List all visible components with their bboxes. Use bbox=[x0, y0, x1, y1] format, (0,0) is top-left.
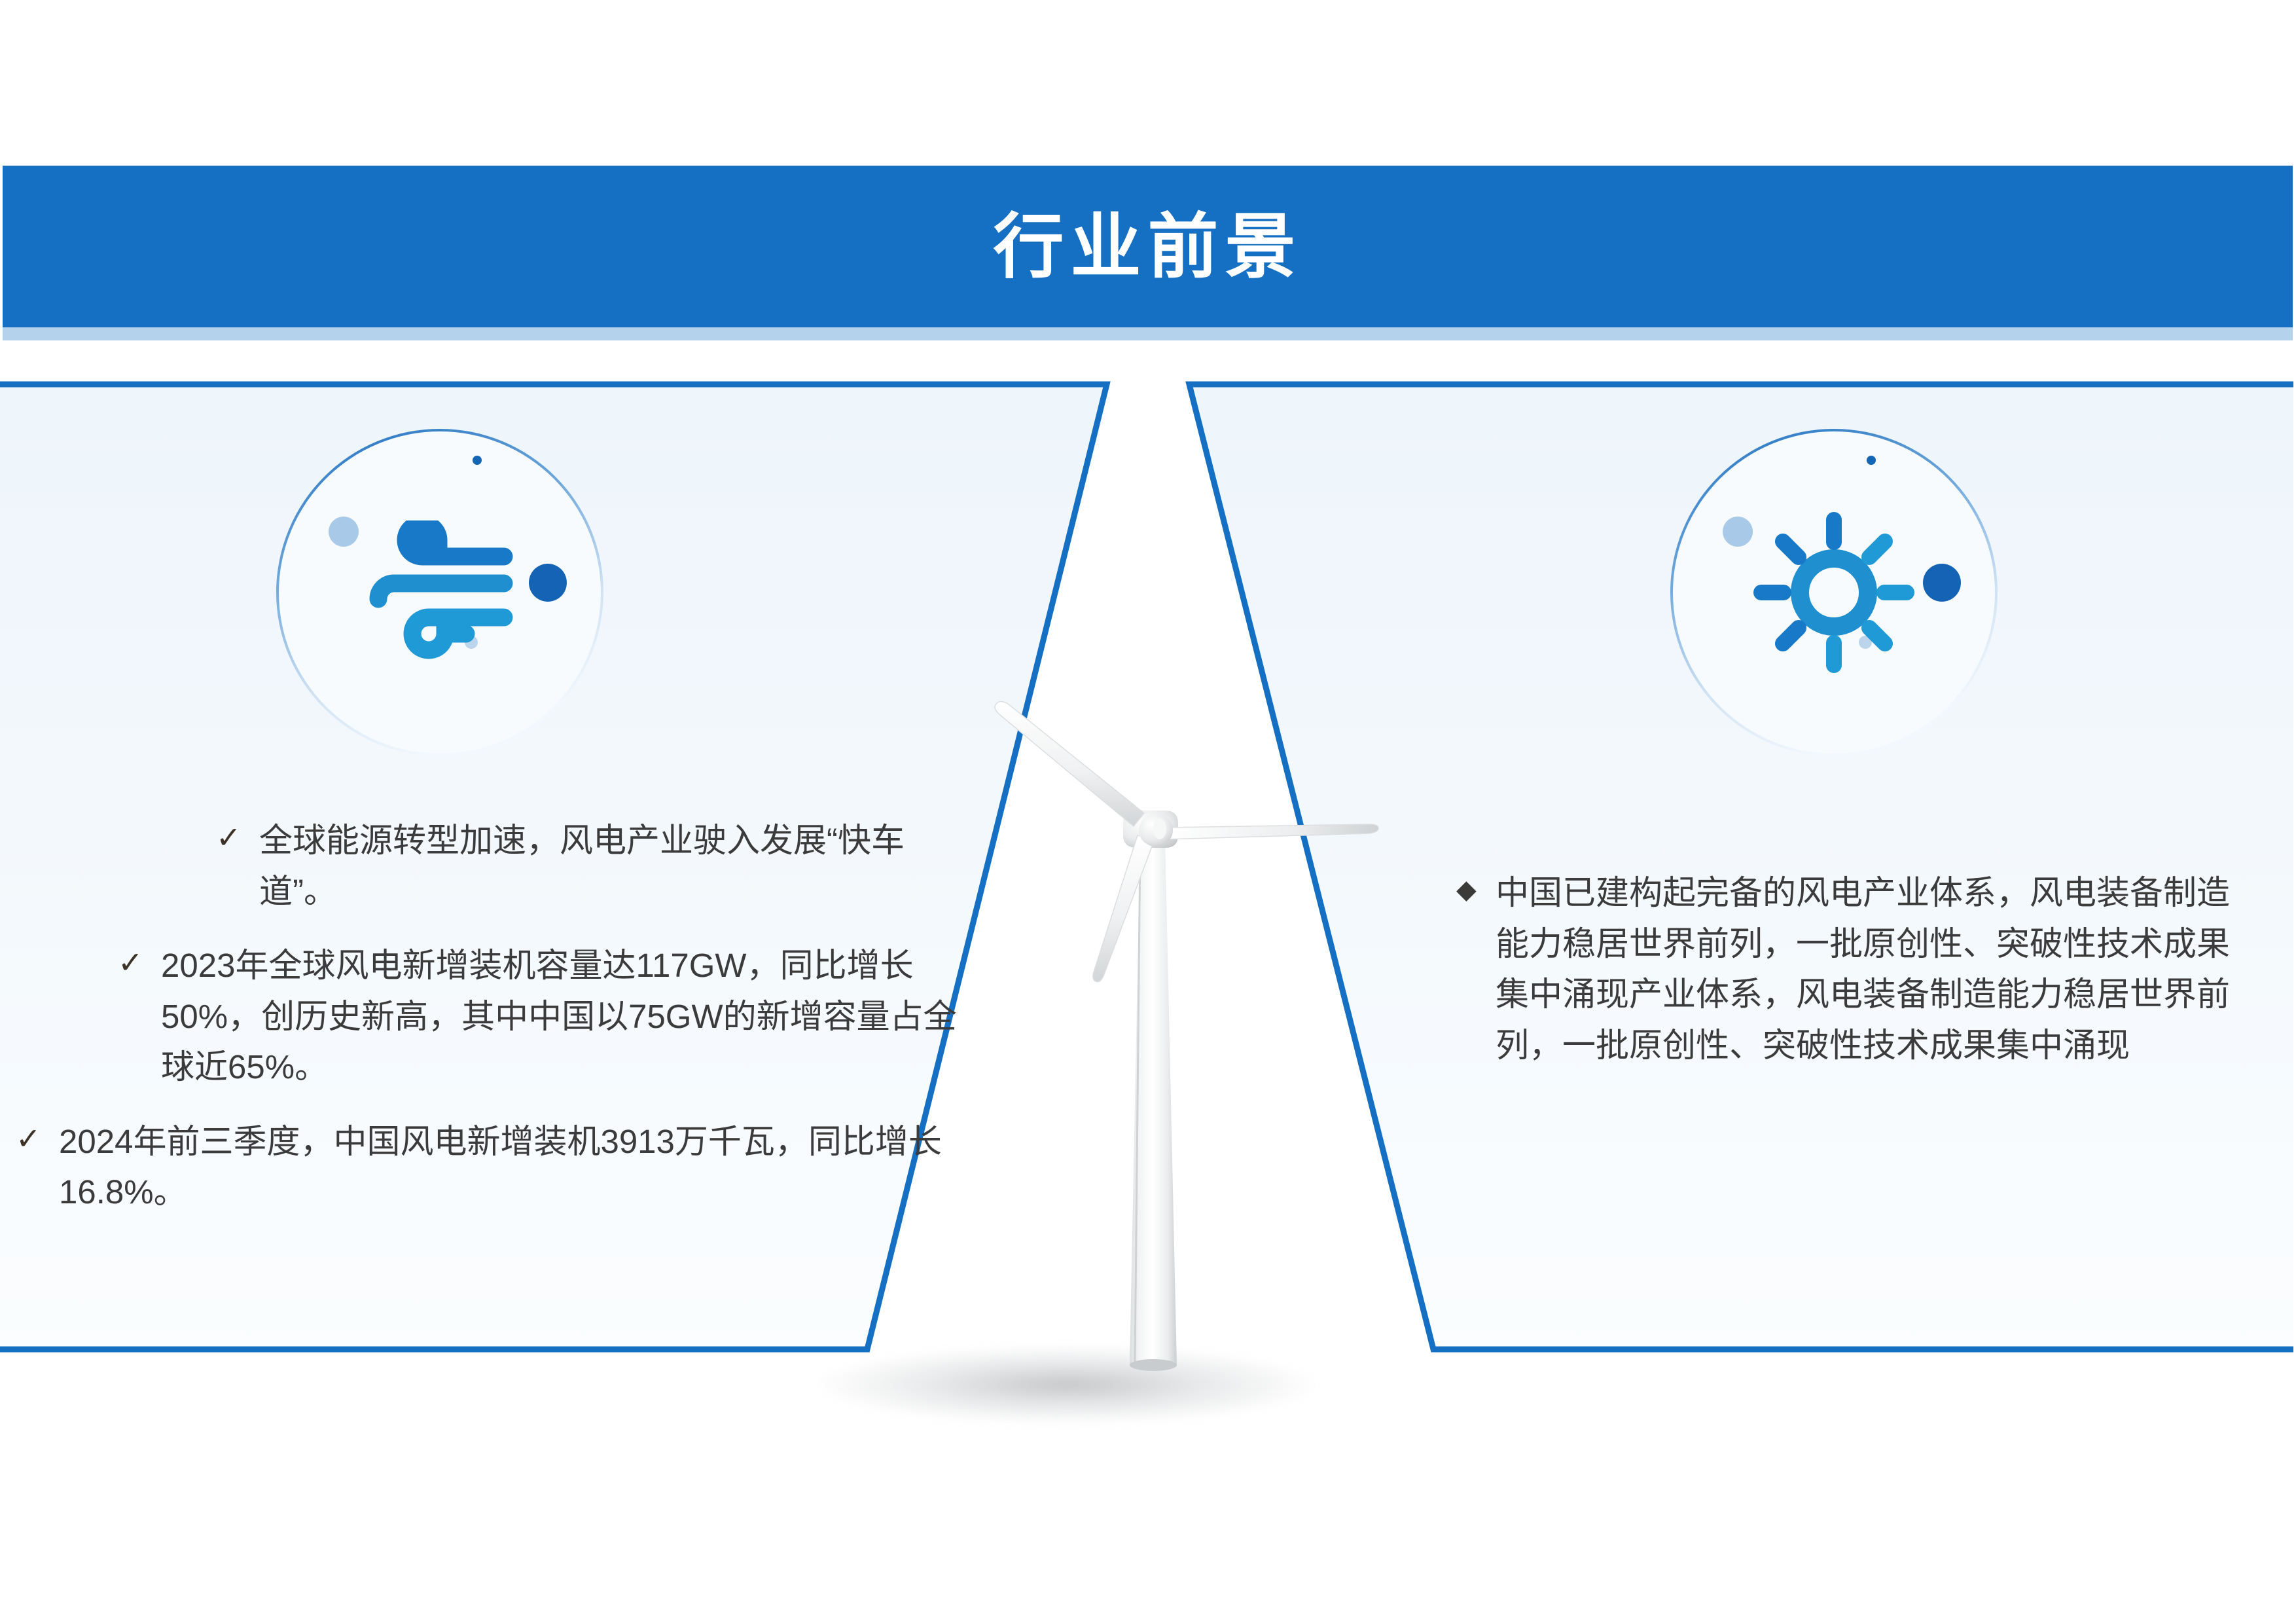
header-underline bbox=[3, 327, 2293, 340]
decorative-dot-right bbox=[529, 564, 567, 602]
sun-icon-badge bbox=[1670, 429, 1998, 756]
check-icon: ✓ bbox=[16, 1116, 59, 1162]
wind-turbine-photo bbox=[969, 674, 1388, 1408]
list-item: ◆ 中国已建构起完备的风电产业体系，风电装备制造能力稳居世界前列，一批原创性、突… bbox=[1456, 867, 2248, 1070]
decorative-dot-upper-left bbox=[1723, 517, 1753, 547]
decorative-dot-right bbox=[1923, 564, 1961, 602]
list-item: ✓ 2023年全球风电新增装机容量达117GW，同比增长 50%，创历史新高，其… bbox=[0, 940, 982, 1093]
list-item-text: 2024年前三季度，中国风电新增装机3913万千瓦，同比增长 16.8%。 bbox=[59, 1116, 982, 1218]
page-title: 行业前景 bbox=[993, 211, 1302, 282]
decorative-dot-top bbox=[473, 456, 482, 465]
wind-turbine-illustration bbox=[969, 674, 1388, 1408]
wind-icon bbox=[355, 520, 525, 665]
check-icon: ✓ bbox=[118, 940, 161, 986]
list-item-text: 全球能源转型加速，风电产业驶入发展“快车道”。 bbox=[259, 815, 982, 917]
page-header-bar: 行业前景 bbox=[3, 166, 2293, 327]
list-item-text: 中国已建构起完备的风电产业体系，风电装备制造能力稳居世界前列，一批原创性、突破性… bbox=[1496, 867, 2248, 1070]
diamond-icon: ◆ bbox=[1456, 867, 1496, 910]
check-icon: ✓ bbox=[216, 815, 259, 861]
sun-icon bbox=[1752, 511, 1916, 674]
wind-icon-badge bbox=[276, 429, 603, 756]
list-item: ✓ 全球能源转型加速，风电产业驶入发展“快车道”。 bbox=[0, 815, 982, 917]
left-bullet-list: ✓ 全球能源转型加速，风电产业驶入发展“快车道”。 ✓ 2023年全球风电新增装… bbox=[0, 815, 982, 1222]
right-bullet-list: ◆ 中国已建构起完备的风电产业体系，风电装备制造能力稳居世界前列，一批原创性、突… bbox=[1456, 867, 2248, 1070]
decorative-dot-top bbox=[1867, 456, 1876, 465]
list-item-text: 2023年全球风电新增装机容量达117GW，同比增长 50%，创历史新高，其中中… bbox=[161, 940, 982, 1093]
list-item: ✓ 2024年前三季度，中国风电新增装机3913万千瓦，同比增长 16.8%。 bbox=[0, 1116, 982, 1218]
